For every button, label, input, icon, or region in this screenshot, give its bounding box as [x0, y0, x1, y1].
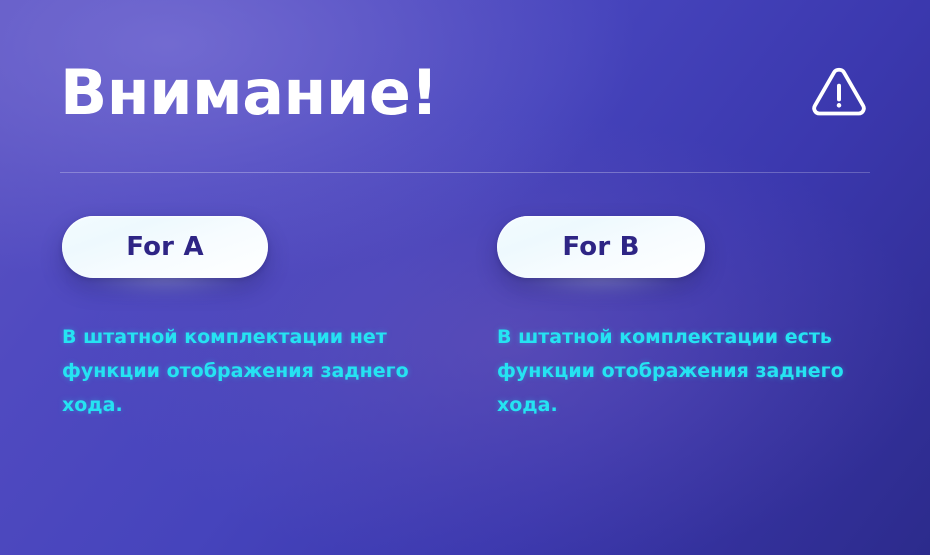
pill-wrap-for-b: For B — [497, 216, 705, 278]
page-title: Внимание! — [60, 59, 438, 127]
for-a-button-label: For A — [126, 234, 204, 260]
pill-wrap-for-a: For A — [62, 216, 268, 278]
for-b-button-label: For B — [562, 234, 639, 260]
column-for-b: For B В штатной комплектации есть функци… — [440, 216, 880, 422]
for-b-description: В штатной комплектации есть функции отоб… — [497, 320, 882, 422]
for-b-button[interactable]: For B — [497, 216, 705, 278]
columns-container: For A В штатной комплектации нет функции… — [0, 216, 930, 422]
warning-triangle-icon — [810, 64, 868, 122]
for-a-button[interactable]: For A — [62, 216, 268, 278]
header-row: Внимание! — [60, 54, 870, 132]
for-a-description: В штатной комплектации нет функции отобр… — [62, 320, 442, 422]
warning-slide: Внимание! For A В штатной комплектации н… — [0, 0, 930, 555]
column-for-a: For A В штатной комплектации нет функции… — [0, 216, 440, 422]
header-divider — [60, 172, 870, 173]
